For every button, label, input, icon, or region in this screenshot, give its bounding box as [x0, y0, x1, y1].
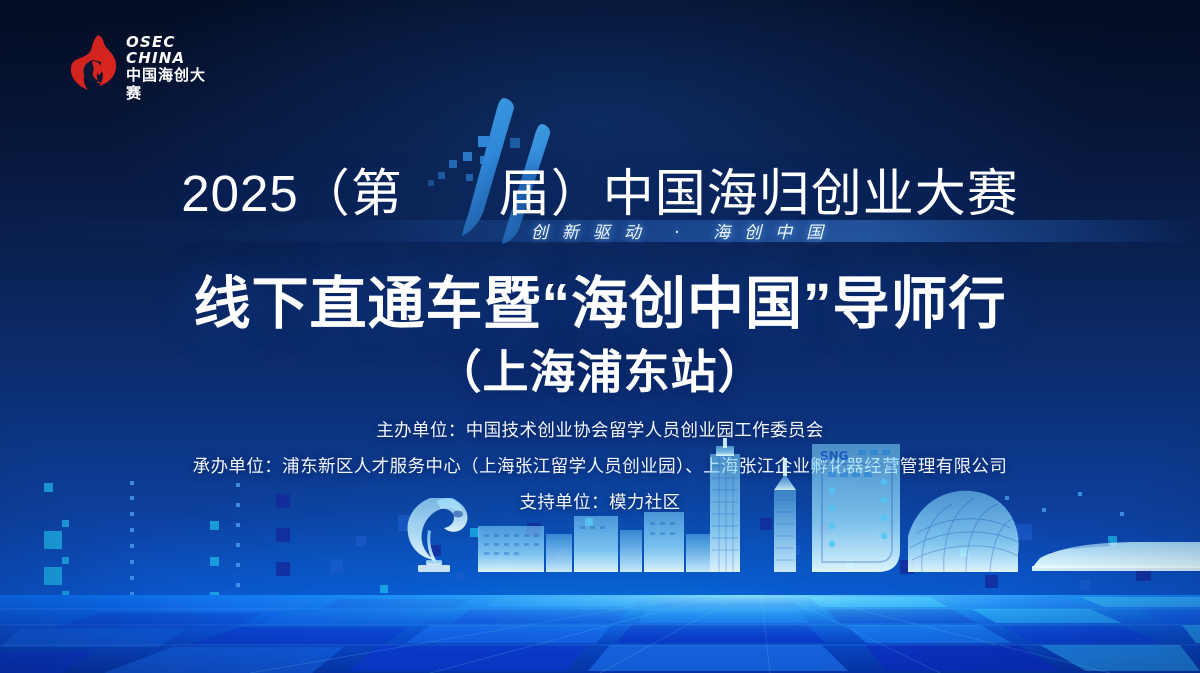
- perspective-grid-icon: [0, 595, 1200, 673]
- organizer-list: 主办单位：中国技术创业协会留学人员创业园工作委员会 承办单位：浦东新区人才服务中…: [0, 412, 1200, 520]
- calligraphy-slogan-row: 创新驱动 · 海创中国: [0, 218, 1200, 243]
- competition-title-line: 2025（第届）中国海归创业大赛: [0, 152, 1200, 226]
- organizer-role-supporter: 支持单位：: [519, 492, 609, 512]
- low-rise-buildings: [478, 512, 710, 572]
- logo-chinese-name: 中国海创大赛: [126, 67, 218, 103]
- organizer-role-coorganizer: 承办单位：: [193, 456, 283, 476]
- organizer-name-host: 中国技术创业协会留学人员创业园工作委员会: [466, 420, 824, 440]
- osec-china-logo: OSEC CHINA 中国海创大赛: [68, 30, 218, 98]
- title-competition-name: 中国海归创业大赛: [603, 165, 1019, 222]
- flame-icon: [68, 34, 120, 94]
- event-poster: OSEC CHINA 中国海创大赛: [0, 0, 1200, 673]
- event-location-subtitle: （上海浦东站）: [0, 336, 1200, 402]
- organizer-row-coorganizer: 承办单位：浦东新区人才服务中心（上海张江留学人员创业园）、上海张江企业孵化器经营…: [0, 448, 1200, 484]
- organizer-role-host: 主办单位：: [376, 420, 466, 440]
- title-year: 2025: [181, 165, 298, 222]
- event-headline: 线下直通车暨“海创中国”导师行: [0, 258, 1200, 340]
- title-bracket-close: 届）: [499, 165, 603, 222]
- title-bracket-open: （第: [299, 165, 403, 222]
- organizer-name-supporter: 模力社区: [609, 492, 681, 512]
- organizer-name-coorganizer: 浦东新区人才服务中心（上海张江留学人员创业园）、上海张江企业孵化器经营管理有限公…: [282, 456, 1007, 476]
- organizer-row-supporter: 支持单位：模力社区: [0, 484, 1200, 520]
- organizer-row-host: 主办单位：中国技术创业协会留学人员创业园工作委员会: [0, 412, 1200, 448]
- calligraphy-slogan: 创新驱动 · 海创中国: [531, 218, 837, 243]
- logo-english-name: OSEC CHINA: [126, 35, 218, 67]
